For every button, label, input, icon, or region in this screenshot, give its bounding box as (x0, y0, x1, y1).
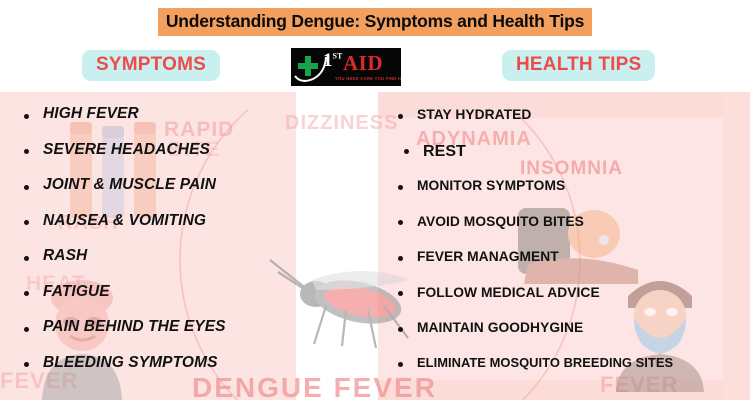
tip-label: MAINTAIN GOODHYGINE (398, 320, 583, 336)
first-aid-logo: 1ST AID YOU NEED CARE YOU FIND HERE (291, 48, 401, 86)
medical-cross-icon (297, 55, 319, 77)
bullet-icon (24, 185, 29, 190)
symptom-label: JOINT & MUSCLE PAIN (24, 176, 216, 194)
symptom-label: HIGH FEVER (24, 105, 139, 123)
logo-tagline: YOU NEED CARE YOU FIND HERE (335, 76, 401, 81)
list-item: BLEEDING SYMPTOMS (24, 347, 304, 383)
page-title: Understanding Dengue: Symptoms and Healt… (158, 8, 592, 36)
tip-label: ELIMINATE MOSQUITO BREEDING SITES (398, 356, 673, 371)
symptom-label: BLEEDING SYMPTOMS (24, 354, 218, 372)
list-item: JOINT & MUSCLE PAIN (24, 169, 304, 205)
symptom-label: NAUSEA & VOMITING (24, 212, 206, 230)
health-tips-list: STAY HYDRATED REST MONITOR SYMPTOMS AVOI… (398, 98, 750, 382)
list-item: FEVER MANAGMENT (398, 240, 750, 276)
list-item: FOLLOW MEDICAL ADVICE (398, 276, 750, 312)
list-item: ELIMINATE MOSQUITO BREEDING SITES (398, 347, 750, 383)
symptoms-section-badge: SYMPTOMS (82, 50, 220, 81)
logo-ordinal: ST (333, 52, 343, 61)
list-item: SEVERE HEADACHES (24, 134, 304, 170)
health-tips-list-column: STAY HYDRATED REST MONITOR SYMPTOMS AVOI… (398, 98, 750, 382)
tip-label: AVOID MOSQUITO BITES (398, 214, 584, 230)
tip-label: FEVER MANAGMENT (398, 249, 559, 265)
logo-word-aid: AID (343, 53, 383, 74)
bullet-icon (398, 185, 403, 190)
bullet-icon (24, 327, 29, 332)
logo-number: 1ST (323, 51, 342, 70)
tip-label: FOLLOW MEDICAL ADVICE (398, 285, 600, 301)
tip-label: MONITOR SYMPTOMS (398, 178, 565, 194)
list-item: MAINTAIN GOODHYGINE (398, 311, 750, 347)
title-wrapper: Understanding Dengue: Symptoms and Healt… (0, 8, 750, 36)
bullet-icon (398, 256, 403, 261)
list-item: RASH (24, 240, 304, 276)
symptom-label: FATIGUE (24, 283, 110, 301)
health-tips-section-badge: HEALTH TIPS (502, 50, 655, 81)
list-item: REST (398, 134, 750, 170)
list-item: STAY HYDRATED (398, 98, 750, 134)
list-item: HIGH FEVER (24, 98, 304, 134)
symptoms-list-column: HIGH FEVER SEVERE HEADACHES JOINT & MUSC… (24, 98, 304, 382)
symptom-label: PAIN BEHIND THE EYES (24, 318, 226, 336)
bullet-icon (398, 327, 403, 332)
list-item: MONITOR SYMPTOMS (398, 169, 750, 205)
list-item: FATIGUE (24, 276, 304, 312)
list-item: AVOID MOSQUITO BITES (398, 205, 750, 241)
tip-label: STAY HYDRATED (398, 107, 531, 123)
symptoms-list: HIGH FEVER SEVERE HEADACHES JOINT & MUSC… (24, 98, 304, 382)
header: Understanding Dengue: Symptoms and Healt… (0, 0, 750, 92)
list-item: PAIN BEHIND THE EYES (24, 311, 304, 347)
symptom-label: RASH (24, 247, 87, 265)
list-item: NAUSEA & VOMITING (24, 205, 304, 241)
bullet-icon (24, 256, 29, 261)
logo-number-text: 1 (323, 50, 333, 71)
bullet-icon (24, 114, 29, 119)
dengue-infographic: RAPID BITE RASH HEAT DIZZINESS ADYNAMIA … (0, 0, 750, 400)
symptom-label: SEVERE HEADACHES (24, 141, 210, 159)
bullet-icon (398, 114, 403, 119)
